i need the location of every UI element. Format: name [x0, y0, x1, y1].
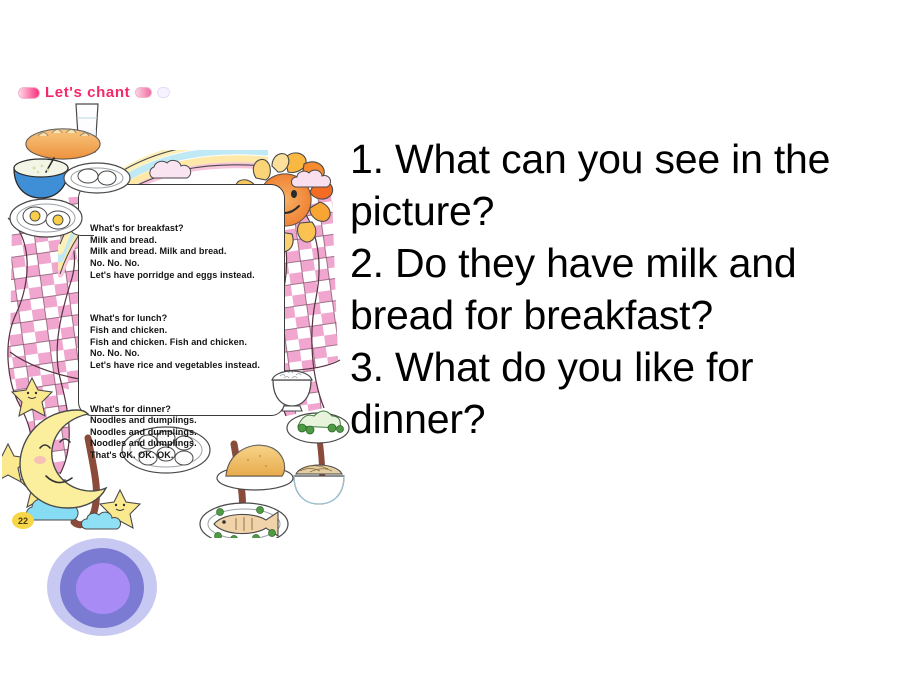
- lets-chant-label: Let's chant: [45, 84, 130, 101]
- decorative-circle-top-mask: [0, 0, 260, 72]
- decorative-circle-bottom-inner: [76, 563, 130, 614]
- pink-cloud-icon: [146, 158, 194, 184]
- plate-of-fish-icon: [198, 500, 290, 538]
- chant-stanza: What's for breakfast? Milk and bread. Mi…: [90, 223, 290, 281]
- pill-decoration-icon-3: [157, 87, 170, 98]
- pill-decoration-icon-2: [135, 87, 152, 98]
- textbook-page-image: Let's chant: [2, 72, 350, 538]
- questions-list: 1. What can you see in the picture? 2. D…: [350, 133, 890, 445]
- bowl-of-noodles-icon: [288, 460, 350, 508]
- question-item: 3. What do you like for dinner?: [350, 341, 890, 445]
- pill-decoration-icon: [18, 87, 40, 99]
- chant-text-block: What's for breakfast? Milk and bread. Mi…: [90, 200, 290, 485]
- eggs-plate-icon: [62, 158, 132, 196]
- lets-chant-heading: Let's chant: [18, 84, 170, 101]
- page-number-badge: 22: [12, 512, 34, 529]
- question-item: 2. Do they have milk and bread for break…: [350, 237, 890, 341]
- slide-canvas: Let's chant: [0, 0, 907, 680]
- question-item: 1. What can you see in the picture?: [350, 133, 890, 237]
- blue-cloud-icon-2: [80, 510, 124, 534]
- chant-stanza: What's for dinner? Noodles and dumplings…: [90, 404, 290, 462]
- chant-stanza: What's for lunch? Fish and chicken. Fish…: [90, 313, 290, 371]
- pink-cloud-icon-3: [290, 168, 334, 192]
- fried-eggs-plate-icon: [8, 194, 84, 240]
